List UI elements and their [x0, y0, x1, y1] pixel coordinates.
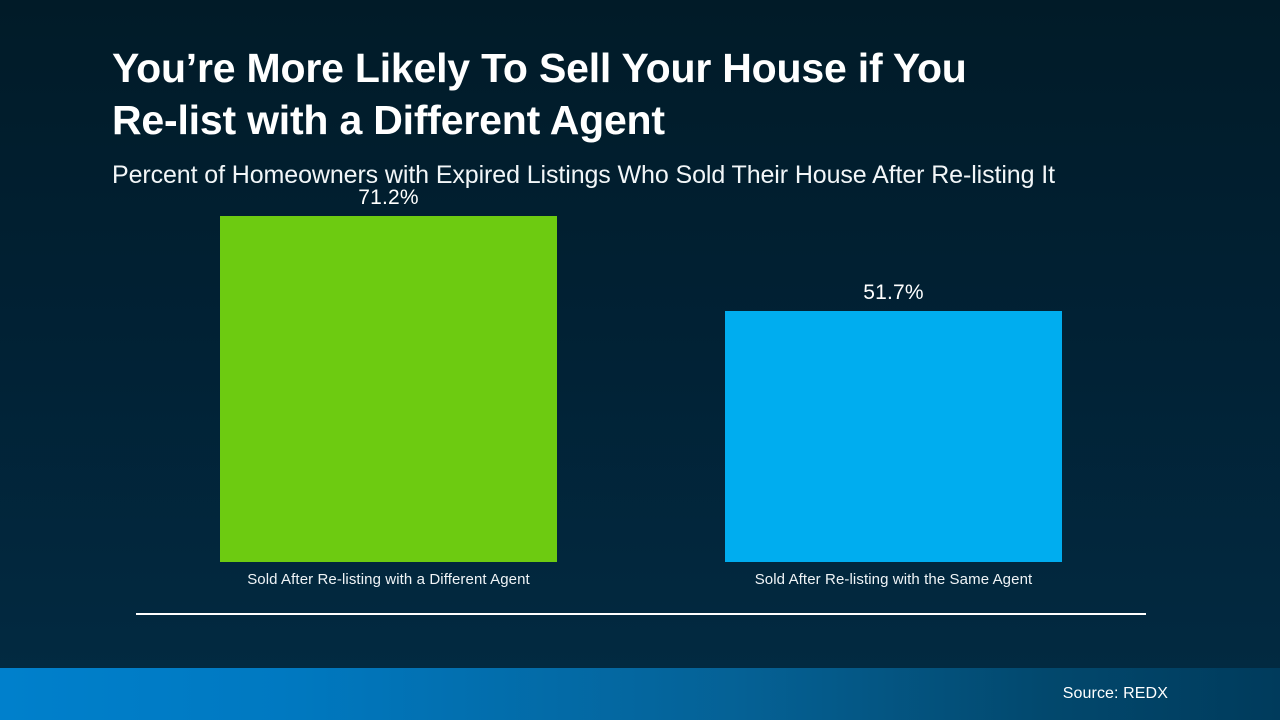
chart-plot-area: 71.2% Sold After Re-listing with a Diffe… — [0, 0, 1280, 668]
source-label: Source: REDX — [1063, 685, 1168, 703]
bar-group-different-agent: 71.2% Sold After Re-listing with a Diffe… — [220, 216, 557, 562]
bar-category-label-same-agent: Sold After Re-listing with the Same Agen… — [685, 562, 1102, 588]
x-axis-line — [136, 613, 1146, 615]
bar-same-agent — [725, 311, 1062, 562]
bar-value-label-same-agent: 51.7% — [725, 281, 1062, 311]
bar-different-agent — [220, 216, 557, 562]
footer-bar: Source: REDX — [0, 668, 1280, 720]
bar-value-label-different-agent: 71.2% — [220, 186, 557, 216]
bar-category-label-different-agent: Sold After Re-listing with a Different A… — [180, 562, 597, 588]
slide-canvas: You’re More Likely To Sell Your House if… — [0, 0, 1280, 720]
bar-group-same-agent: 51.7% Sold After Re-listing with the Sam… — [725, 311, 1062, 562]
